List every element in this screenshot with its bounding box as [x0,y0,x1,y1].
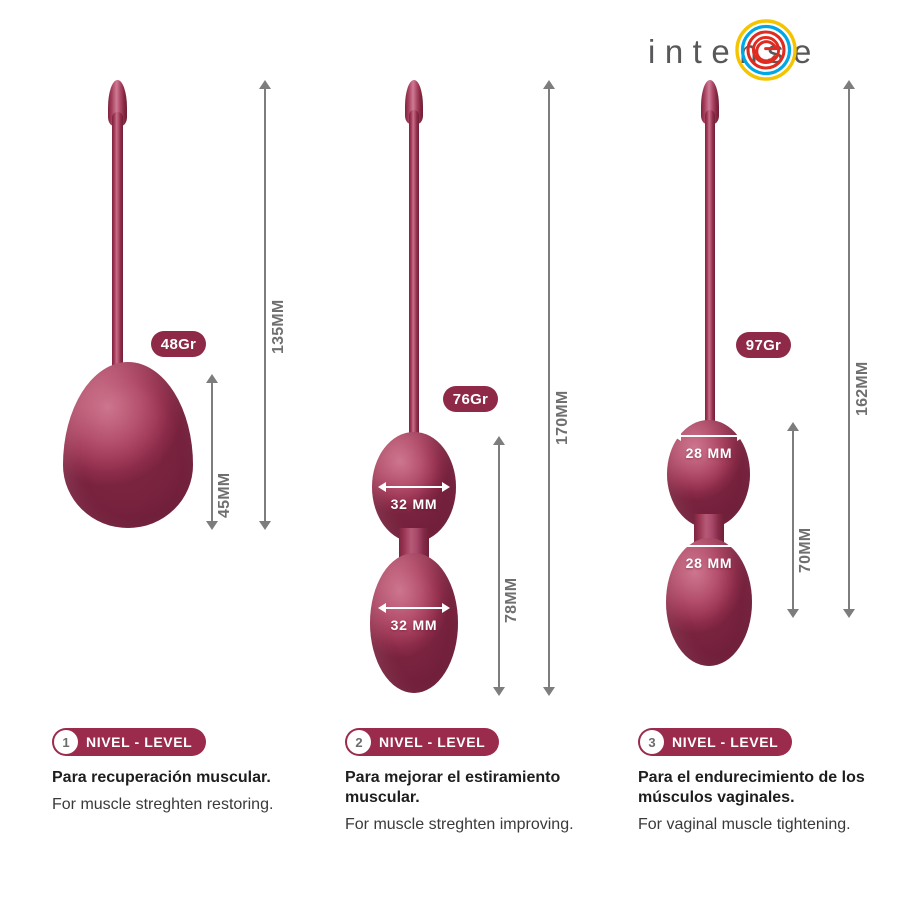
product-column-1: 48Gr 45MM 135MM [0,0,300,720]
description-es-3: Para el endurecimiento de los músculos v… [638,768,900,808]
product-column-3: 97Gr 28 MM 28 MM 70MM 162MM [600,0,900,720]
dimension-label-body-2: 78MM [503,578,521,623]
dimension-line-total-3 [842,80,856,618]
level-badge-2[interactable]: 2 NIVEL - LEVEL [345,728,499,756]
width-label-3-lower: 28 MM [671,540,747,571]
level-label-3: NIVEL - LEVEL [672,734,778,750]
description-es-2: Para mejorar el estiramiento muscular. [345,768,615,808]
width-label-2-lower: 32 MM [376,602,452,633]
width-label-2-upper: 32 MM [376,481,452,512]
retrieval-cord-3 [705,110,715,428]
level-number-3: 3 [640,730,664,754]
description-en-3: For vaginal muscle tightening. [638,815,900,836]
level-card-1: 1 NIVEL - LEVEL Para recuperación muscul… [52,728,332,816]
level-label-2: NIVEL - LEVEL [379,734,485,750]
retrieval-cord-1 [112,112,123,372]
product-body-1 [63,362,193,528]
dimension-label-body-3: 70MM [797,528,815,573]
level-number-1: 1 [54,730,78,754]
level-badge-3[interactable]: 3 NIVEL - LEVEL [638,728,792,756]
weight-badge-2: 76Gr [443,386,498,412]
level-card-3: 3 NIVEL - LEVEL Para el endurecimiento d… [638,728,900,836]
dimension-label-total-1: 135MM [270,300,288,354]
dimension-label-body-1: 45MM [216,473,234,518]
level-card-2: 2 NIVEL - LEVEL Para mejorar el estirami… [345,728,625,836]
dimension-line-body-2 [492,436,506,696]
dimension-line-total-2 [542,80,556,696]
retrieval-cord-2 [409,110,419,440]
dimension-line-body-3 [786,422,800,618]
description-es-1: Para recuperación muscular. [52,768,322,788]
level-badge-1[interactable]: 1 NIVEL - LEVEL [52,728,206,756]
width-label-3-upper: 28 MM [671,430,747,461]
description-en-1: For muscle streghten restoring. [52,795,322,816]
description-en-2: For muscle streghten improving. [345,815,615,836]
weight-badge-3: 97Gr [736,332,791,358]
dimension-label-total-2: 170MM [554,391,572,445]
dimension-label-total-3: 162MM [854,362,872,416]
infographic-canvas: intense 48Gr 45MM 135MM [0,0,900,900]
weight-badge-1: 48Gr [151,331,206,357]
level-label-1: NIVEL - LEVEL [86,734,192,750]
product-column-2: 76Gr 32 MM 32 MM 78MM 170MM [300,0,600,720]
level-number-2: 2 [347,730,371,754]
